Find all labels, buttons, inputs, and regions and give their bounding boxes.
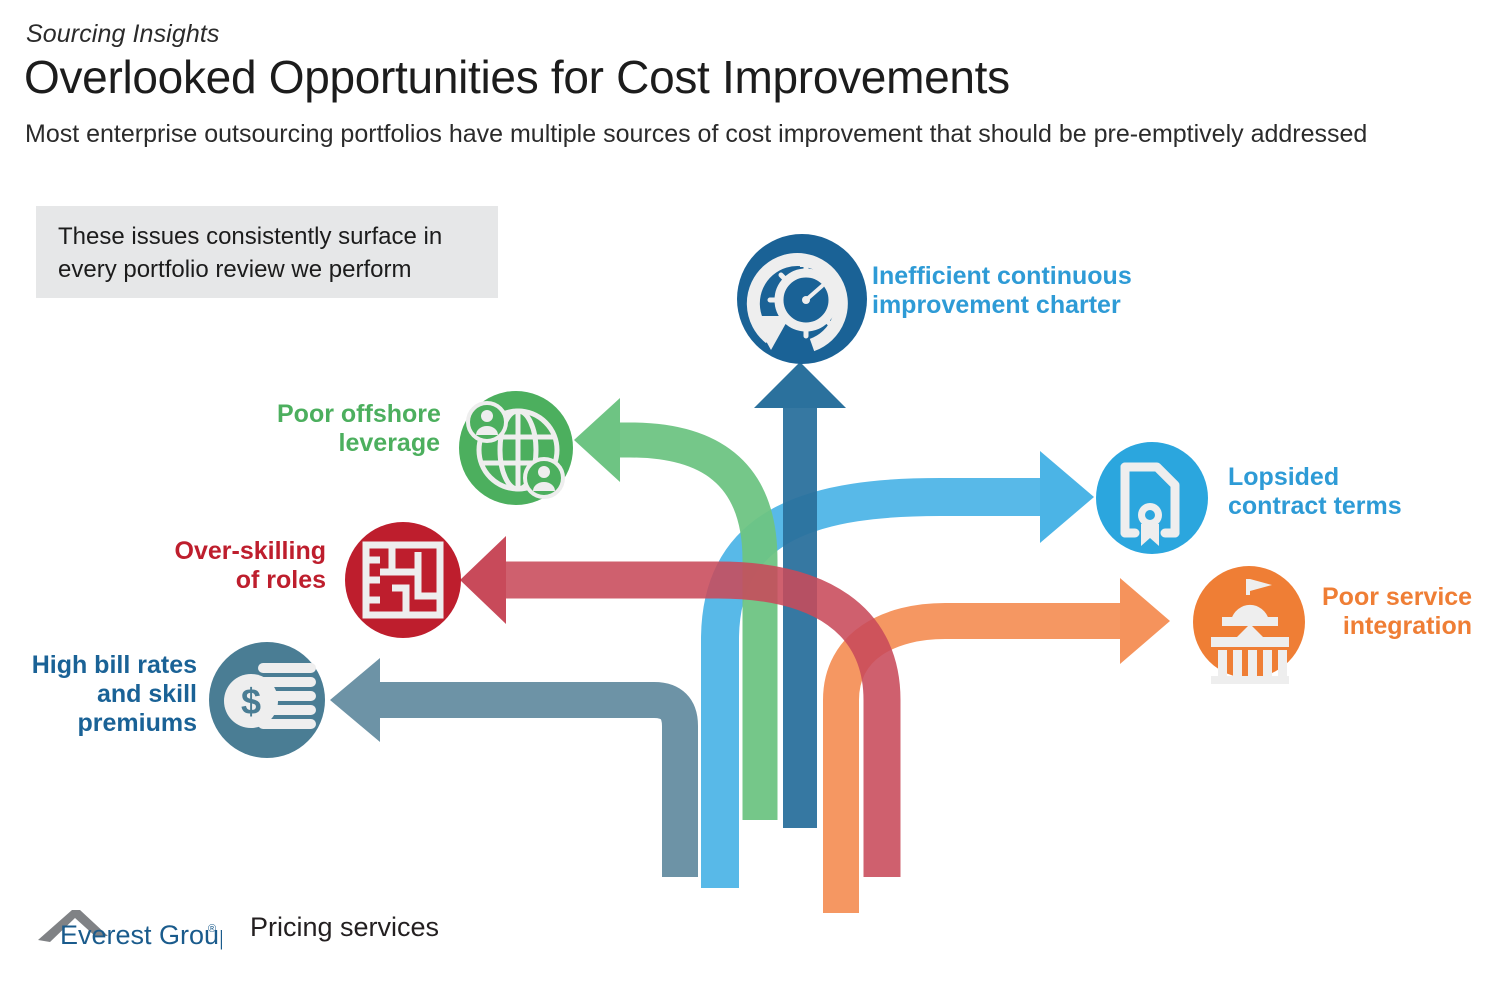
footer-text: Pricing services [250,912,439,943]
label-line: High bill rates [20,651,197,680]
everest-group-logo: Everest Group ® [36,896,222,954]
label-line: premiums [20,709,197,738]
label-over-skilling-of-roles: Over-skilling of roles [166,537,326,595]
node-over-skilling-of-roles[interactable] [345,522,461,638]
label-line: Poor offshore [277,400,440,429]
svg-text:$: $ [241,681,261,722]
node-poor-service-integration[interactable] [1193,566,1305,684]
label-poor-offshore-leverage: Poor offshore leverage [277,400,440,458]
label-line: Over-skilling [166,537,326,566]
label-line: improvement charter [872,291,1132,320]
label-line: integration [1322,612,1472,641]
label-line: contract terms [1228,492,1402,521]
label-line: of roles [166,566,326,595]
arrow-group [330,362,1170,913]
node-high-bill-rates[interactable]: $ [209,642,325,758]
label-high-bill-rates: High bill rates and skill premiums [20,651,197,738]
label-inefficient-improvement-charter: Inefficient continuous improvement chart… [872,262,1132,320]
node-circle [345,522,461,638]
node-inefficient-improvement-charter[interactable] [737,234,867,364]
label-line: and skill [20,680,197,709]
node-lopsided-contract-terms[interactable] [1096,442,1208,554]
brand-name: Everest Group [60,920,222,950]
label-line: Poor service [1322,583,1472,612]
registered-mark: ® [208,923,216,935]
label-lopsided-contract-terms: Lopsided contract terms [1228,463,1402,521]
label-poor-service-integration: Poor service integration [1322,583,1472,641]
label-line: Inefficient continuous [872,262,1132,291]
label-line: leverage [277,429,440,458]
arrow-high-bill-rates [330,658,680,877]
node-poor-offshore-leverage[interactable] [459,391,573,505]
label-line: Lopsided [1228,463,1402,492]
